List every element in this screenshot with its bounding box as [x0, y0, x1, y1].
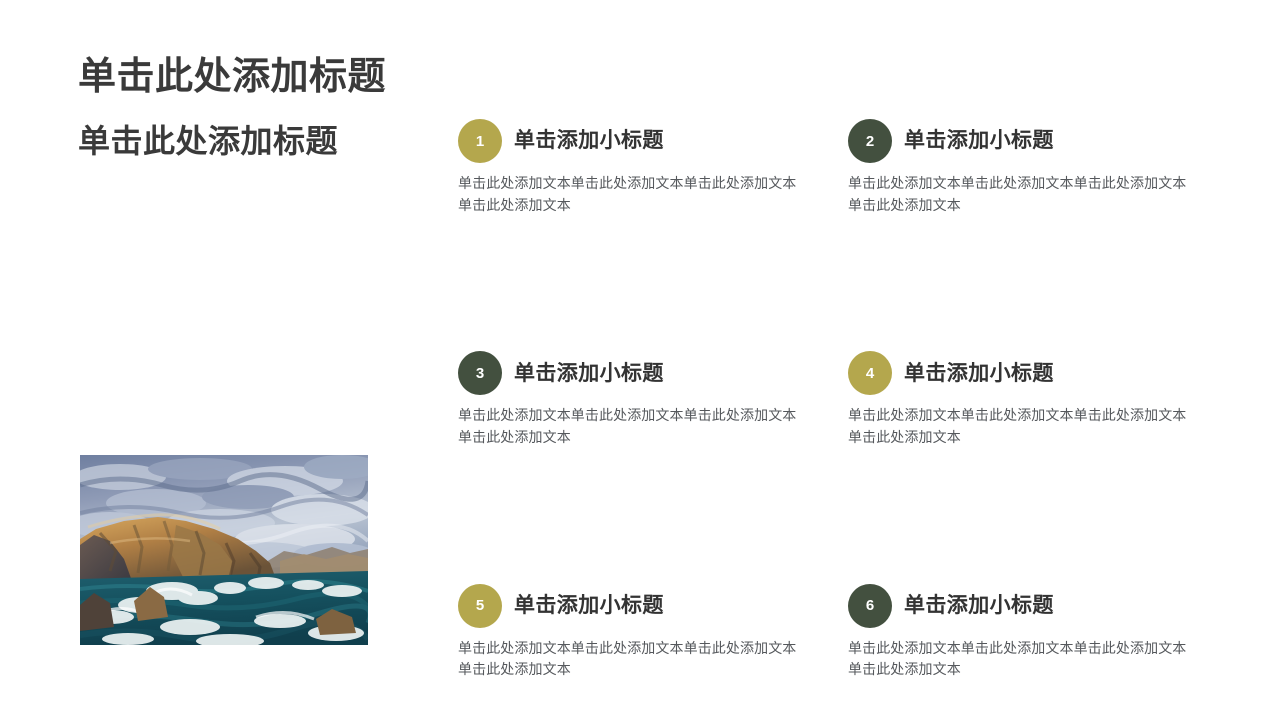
- slide-canvas: 单击此处添加标题 单击此处添加标题: [0, 0, 1280, 720]
- list-item-title[interactable]: 单击添加小标题: [514, 594, 664, 617]
- list-item-title[interactable]: 单击添加小标题: [904, 362, 1054, 385]
- list-item[interactable]: 1 单击添加小标题 单击此处添加文本单击此处添加文本单击此处添加文本单击此处添加…: [458, 118, 803, 216]
- list-item-body[interactable]: 单击此处添加文本单击此处添加文本单击此处添加文本单击此处添加文本: [458, 405, 800, 448]
- list-item[interactable]: 6 单击添加小标题 单击此处添加文本单击此处添加文本单击此处添加文本单击此处添加…: [848, 583, 1193, 681]
- list-item-body[interactable]: 单击此处添加文本单击此处添加文本单击此处添加文本单击此处添加文本: [848, 173, 1190, 216]
- badge-number-1: 1: [458, 119, 502, 163]
- list-item-header: 3 单击添加小标题: [458, 350, 803, 396]
- list-item-title[interactable]: 单击添加小标题: [904, 594, 1054, 617]
- list-item-header: 5 单击添加小标题: [458, 583, 803, 629]
- seascape-painting-image: [80, 455, 368, 645]
- list-item-header: 1 单击添加小标题: [458, 118, 803, 164]
- badge-number-2: 2: [848, 119, 892, 163]
- list-item-header: 6 单击添加小标题: [848, 583, 1193, 629]
- list-item[interactable]: 3 单击添加小标题 单击此处添加文本单击此处添加文本单击此处添加文本单击此处添加…: [458, 350, 803, 448]
- list-item-header: 4 单击添加小标题: [848, 350, 1193, 396]
- list-item[interactable]: 4 单击添加小标题 单击此处添加文本单击此处添加文本单击此处添加文本单击此处添加…: [848, 350, 1193, 448]
- list-item-body[interactable]: 单击此处添加文本单击此处添加文本单击此处添加文本单击此处添加文本: [848, 638, 1190, 681]
- painting-artwork: [80, 455, 368, 645]
- feature-items-grid: 1 单击添加小标题 单击此处添加文本单击此处添加文本单击此处添加文本单击此处添加…: [458, 118, 1208, 681]
- title-block: 单击此处添加标题 单击此处添加标题: [78, 56, 418, 159]
- list-item-body[interactable]: 单击此处添加文本单击此处添加文本单击此处添加文本单击此处添加文本: [848, 405, 1190, 448]
- list-item-title[interactable]: 单击添加小标题: [904, 129, 1054, 152]
- badge-number-4: 4: [848, 351, 892, 395]
- list-item-title[interactable]: 单击添加小标题: [514, 129, 664, 152]
- badge-number-3: 3: [458, 351, 502, 395]
- list-item-body[interactable]: 单击此处添加文本单击此处添加文本单击此处添加文本单击此处添加文本: [458, 638, 800, 681]
- page-title[interactable]: 单击此处添加标题: [78, 56, 418, 99]
- badge-number-6: 6: [848, 584, 892, 628]
- list-item[interactable]: 2 单击添加小标题 单击此处添加文本单击此处添加文本单击此处添加文本单击此处添加…: [848, 118, 1193, 216]
- list-item-header: 2 单击添加小标题: [848, 118, 1193, 164]
- badge-number-5: 5: [458, 584, 502, 628]
- list-item-body[interactable]: 单击此处添加文本单击此处添加文本单击此处添加文本单击此处添加文本: [458, 173, 800, 216]
- page-subtitle[interactable]: 单击此处添加标题: [78, 123, 418, 160]
- list-item-title[interactable]: 单击添加小标题: [514, 362, 664, 385]
- list-item[interactable]: 5 单击添加小标题 单击此处添加文本单击此处添加文本单击此处添加文本单击此处添加…: [458, 583, 803, 681]
